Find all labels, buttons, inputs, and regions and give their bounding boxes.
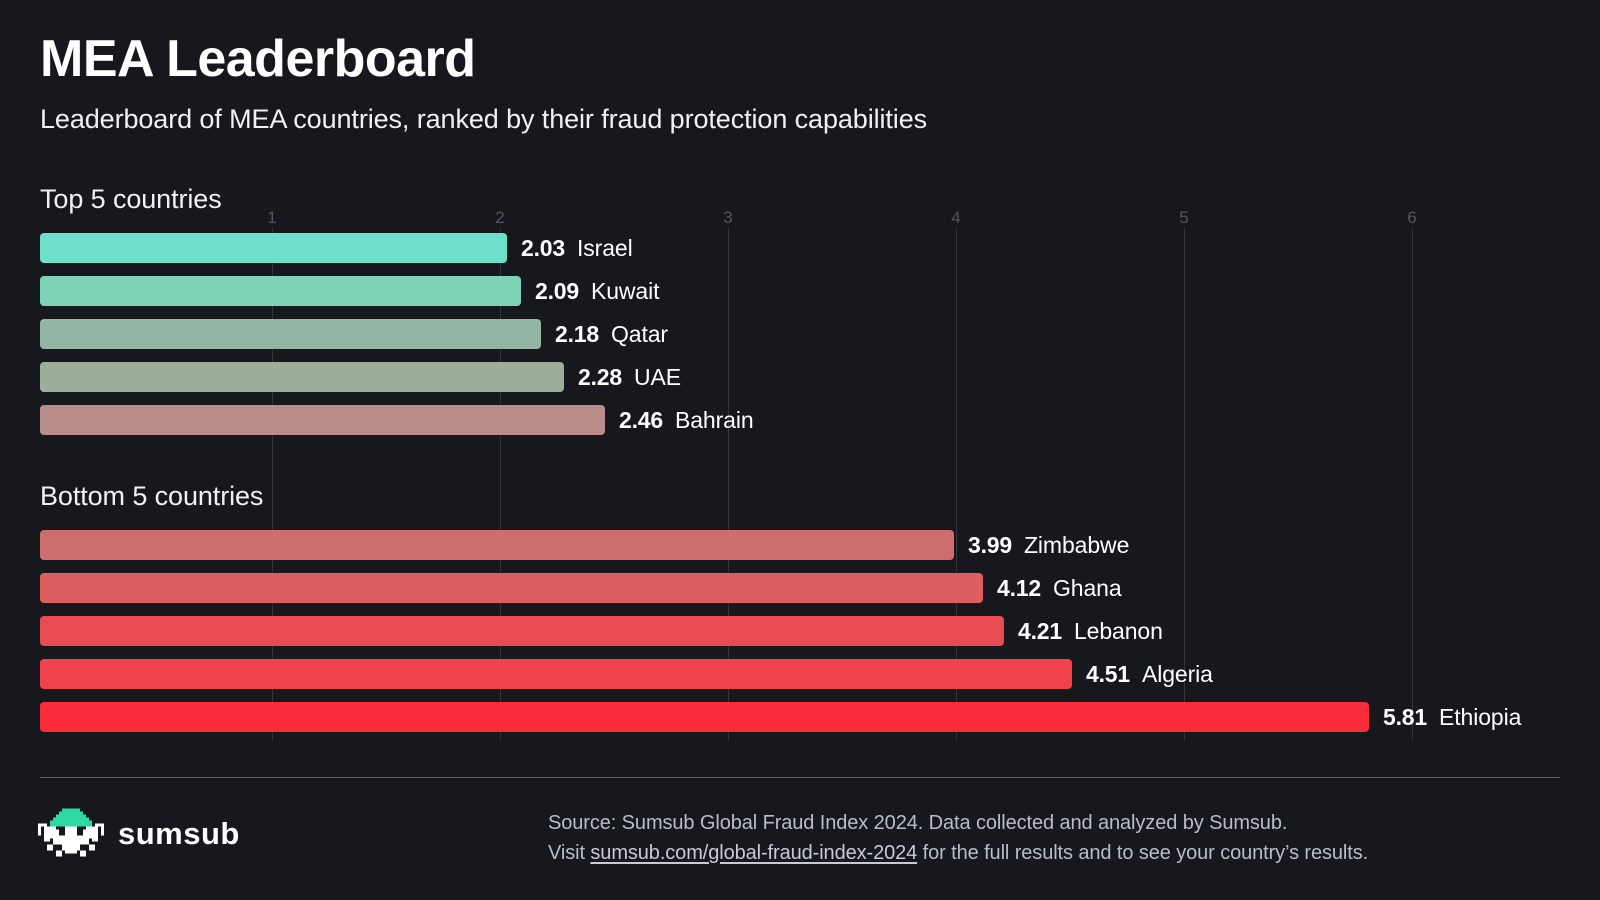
- bar-label: 2.28UAE: [578, 364, 681, 391]
- bar-label: 2.09Kuwait: [535, 278, 659, 305]
- bar-ghana: [40, 573, 983, 603]
- bar-country-name: Israel: [577, 235, 633, 262]
- bar-bahrain: [40, 405, 605, 435]
- source-visit-suffix: for the full results and to see your cou…: [917, 842, 1368, 864]
- gridline-1: [272, 228, 273, 740]
- bar-row: 2.09Kuwait: [40, 276, 659, 306]
- bar-value: 2.09: [535, 278, 579, 305]
- bar-value: 2.18: [555, 321, 599, 348]
- bar-country-name: Zimbabwe: [1024, 532, 1129, 559]
- bar-country-name: UAE: [634, 364, 681, 391]
- bar-ethiopia: [40, 702, 1369, 732]
- bar-label: 2.03Israel: [521, 235, 633, 262]
- bar-value: 3.99: [968, 532, 1012, 559]
- bar-zimbabwe: [40, 530, 954, 560]
- bar-country-name: Ghana: [1053, 575, 1122, 602]
- leaderboard-infographic: MEA Leaderboard Leaderboard of MEA count…: [0, 0, 1600, 900]
- bar-country-name: Algeria: [1142, 661, 1213, 688]
- sumsub-mark-icon: [38, 808, 104, 860]
- bar-row: 5.81Ethiopia: [40, 702, 1521, 732]
- bar-label: 2.18Qatar: [555, 321, 668, 348]
- page-subtitle: Leaderboard of MEA countries, ranked by …: [40, 104, 1540, 135]
- bar-country-name: Ethiopia: [1439, 704, 1521, 731]
- bar-row: 4.12Ghana: [40, 573, 1122, 603]
- bar-uae: [40, 362, 564, 392]
- bar-row: 2.18Qatar: [40, 319, 668, 349]
- section-title-top: Top 5 countries: [40, 184, 222, 215]
- bar-kuwait: [40, 276, 521, 306]
- footer: sumsub Source: Sumsub Global Fraud Index…: [0, 790, 1600, 900]
- bar-qatar: [40, 319, 541, 349]
- gridline-label-3: 3: [723, 208, 732, 228]
- source-note: Source: Sumsub Global Fraud Index 2024. …: [548, 808, 1368, 868]
- bar-row: 4.21Lebanon: [40, 616, 1163, 646]
- gridline-label-5: 5: [1179, 208, 1188, 228]
- sumsub-logo: sumsub: [38, 808, 240, 860]
- sumsub-wordmark: sumsub: [118, 816, 240, 852]
- gridline-6: [1412, 228, 1413, 740]
- bar-row: 2.03Israel: [40, 233, 633, 263]
- bar-algeria: [40, 659, 1072, 689]
- bar-label: 4.21Lebanon: [1018, 618, 1163, 645]
- bar-value: 4.51: [1086, 661, 1130, 688]
- gridline-label-2: 2: [495, 208, 504, 228]
- source-line-1: Source: Sumsub Global Fraud Index 2024. …: [548, 808, 1368, 838]
- global-fraud-index-link[interactable]: sumsub.com/global-fraud-index-2024: [590, 842, 917, 864]
- bar-value: 2.03: [521, 235, 565, 262]
- bar-country-name: Lebanon: [1074, 618, 1163, 645]
- bar-value: 2.46: [619, 407, 663, 434]
- bar-row: 2.46Bahrain: [40, 405, 754, 435]
- footer-divider: [40, 777, 1560, 778]
- bar-row: 3.99Zimbabwe: [40, 530, 1129, 560]
- bar-country-name: Kuwait: [591, 278, 659, 305]
- bar-value: 5.81: [1383, 704, 1427, 731]
- gridline-3: [728, 228, 729, 740]
- gridline-label-6: 6: [1407, 208, 1416, 228]
- bar-label: 3.99Zimbabwe: [968, 532, 1129, 559]
- bar-row: 4.51Algeria: [40, 659, 1213, 689]
- bar-row: 2.28UAE: [40, 362, 681, 392]
- gridline-2: [500, 228, 501, 740]
- section-title-bottom: Bottom 5 countries: [40, 481, 263, 512]
- bar-label: 4.12Ghana: [997, 575, 1122, 602]
- bar-lebanon: [40, 616, 1004, 646]
- page-title: MEA Leaderboard: [40, 30, 1540, 88]
- gridline-label-4: 4: [951, 208, 960, 228]
- bar-value: 2.28: [578, 364, 622, 391]
- source-visit-prefix: Visit: [548, 842, 590, 864]
- gridline-label-1: 1: [267, 208, 276, 228]
- bar-value: 4.21: [1018, 618, 1062, 645]
- bar-label: 4.51Algeria: [1086, 661, 1213, 688]
- gridline-4: [956, 228, 957, 740]
- bar-country-name: Qatar: [611, 321, 668, 348]
- bar-label: 2.46Bahrain: [619, 407, 754, 434]
- bar-label: 5.81Ethiopia: [1383, 704, 1521, 731]
- bar-country-name: Bahrain: [675, 407, 754, 434]
- gridline-5: [1184, 228, 1185, 740]
- bar-israel: [40, 233, 507, 263]
- source-line-2: Visit sumsub.com/global-fraud-index-2024…: [548, 838, 1368, 868]
- bar-value: 4.12: [997, 575, 1041, 602]
- header: MEA Leaderboard Leaderboard of MEA count…: [40, 30, 1540, 135]
